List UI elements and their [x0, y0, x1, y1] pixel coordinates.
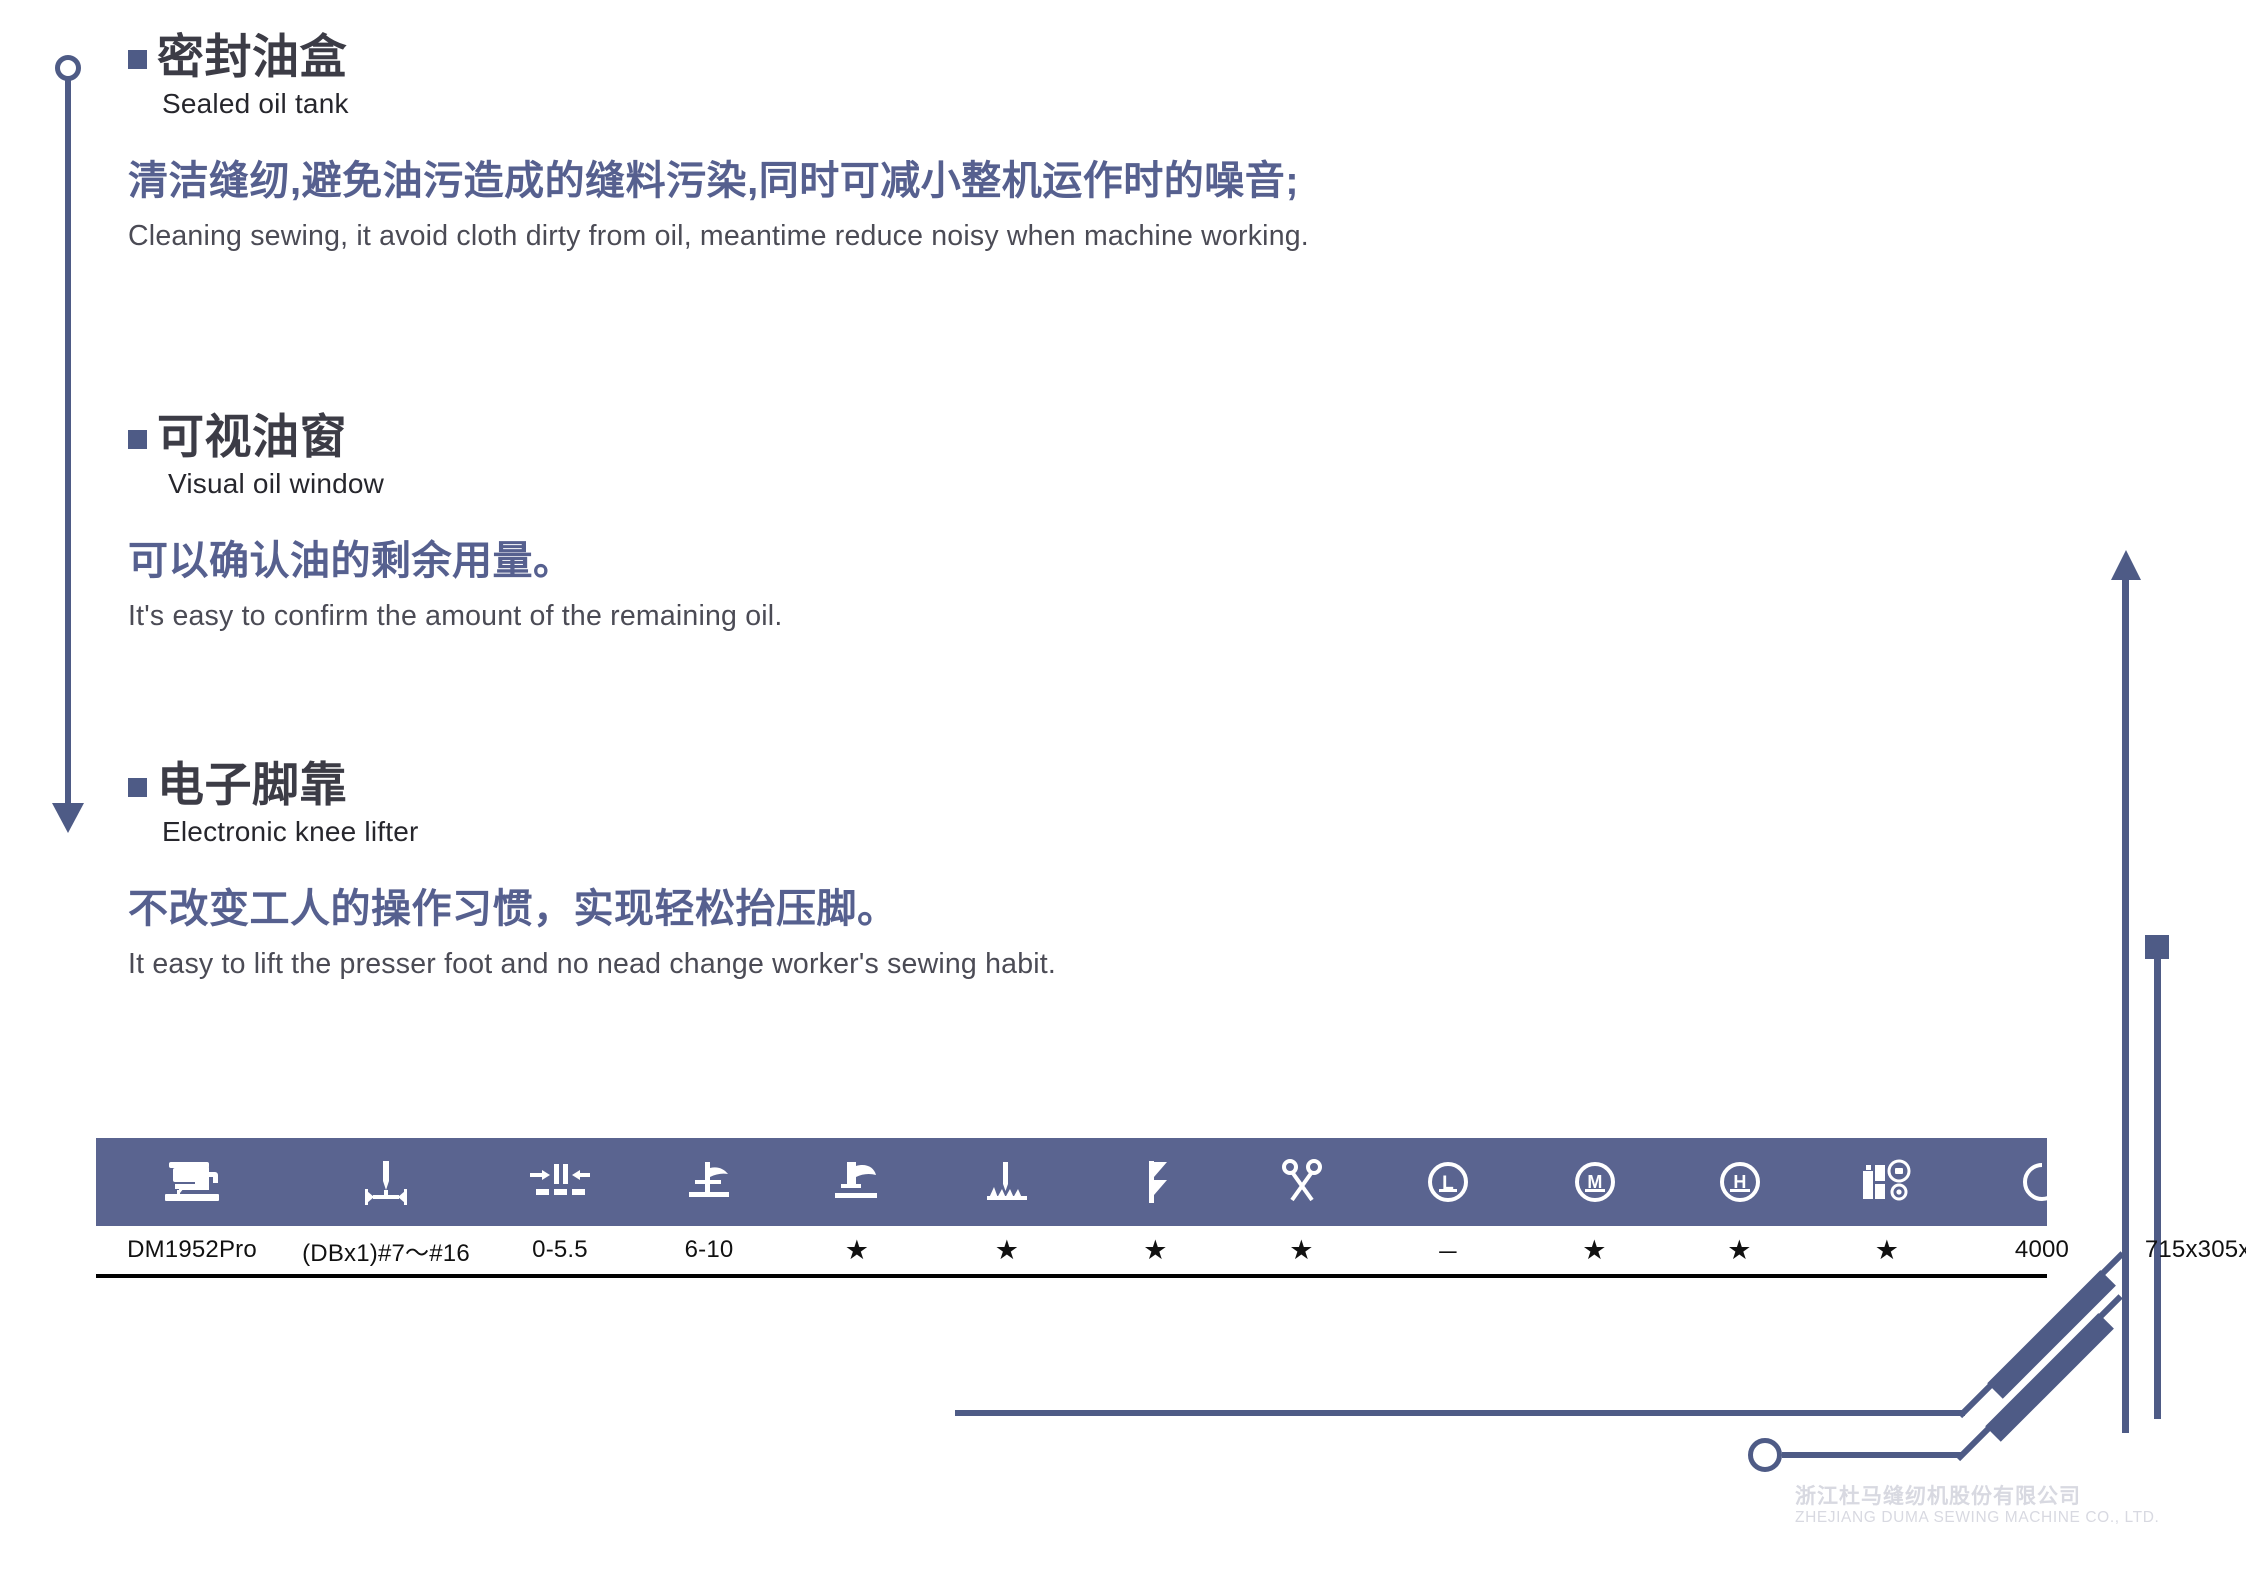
feature-title-en: Sealed oil tank — [162, 88, 1309, 120]
spec-icon-cell — [1812, 1138, 1962, 1226]
spec-icon-cell: M — [1522, 1138, 1667, 1226]
spec-icon-cell — [288, 1138, 484, 1226]
specification-table: L M H — [96, 1138, 2047, 1278]
square-marker-icon — [2145, 935, 2169, 959]
feature-title: 密封油盒 — [128, 32, 1309, 82]
timeline-start-circle-icon — [55, 55, 81, 81]
spec-icon-cell — [636, 1138, 782, 1226]
square-bullet-icon — [128, 50, 147, 69]
feature-title-cn: 电子脚靠 — [157, 760, 347, 810]
spec-icon-cell — [1962, 1138, 2122, 1226]
spec-value-cell: 4000 — [1962, 1236, 2122, 1264]
spec-value-cell: ★ — [1082, 1237, 1229, 1264]
feature-title: 可视油窗 — [128, 412, 782, 462]
feature-block-visual-oil-window: 可视油窗 Visual oil window 可以确认油的剩余用量。 It's … — [128, 412, 782, 633]
arrow-up-icon — [2111, 550, 2141, 580]
spec-icon-cell — [2122, 1138, 2246, 1226]
spec-icon-row: L M H — [96, 1138, 2047, 1226]
timeline-stem — [65, 79, 71, 809]
square-bullet-icon — [128, 430, 147, 449]
spec-icon-cell — [782, 1138, 932, 1226]
spec-value-cell: ★ — [932, 1237, 1082, 1264]
watermark-cn: 浙江杜马缝纫机股份有限公司 — [1795, 1485, 2159, 1509]
spec-value-cell: ★ — [1812, 1237, 1962, 1264]
spec-value-row: DM1952Pro (DBx1)#7～#16 0-5.5 6-10 ★ ★ ★ … — [96, 1226, 2047, 1278]
rotation-speed-icon — [2019, 1159, 2065, 1205]
feature-block-sealed-oil-tank: 密封油盒 Sealed oil tank 清洁缝纫,避免油污造成的缝料污染,同时… — [128, 32, 1309, 253]
feature-body-cn: 清洁缝纫,避免油污造成的缝料污染,同时可减小整机运作时的噪音; — [128, 148, 1309, 206]
spec-value-cell: ★ — [782, 1237, 932, 1264]
bottom-connector-line-lower — [1782, 1452, 1962, 1458]
feature-body-cn: 可以确认油的剩余用量。 — [128, 528, 782, 586]
presser-foot-icon — [831, 1160, 883, 1204]
spec-value-cell: 6-10 — [636, 1236, 782, 1264]
left-timeline-rail — [50, 55, 90, 845]
scissors-icon — [1279, 1159, 1325, 1205]
stitch-length-icon — [528, 1162, 592, 1202]
spec-icon-cell — [96, 1138, 288, 1226]
packing-box-icon — [2192, 1156, 2244, 1208]
feature-block-electronic-knee-lifter: 电子脚靠 Electronic knee lifter 不改变工人的操作习惯，实… — [128, 760, 1056, 981]
bottom-connector-line-upper — [955, 1410, 1965, 1416]
feature-title-cn: 可视油窗 — [157, 412, 347, 462]
low-speed-icon: L — [1426, 1160, 1470, 1204]
spec-value-cell: ★ — [1667, 1237, 1812, 1264]
watermark-en: ZHEJIANG DUMA SEWING MACHINE CO., LTD. — [1795, 1509, 2159, 1527]
feature-body-en: Cleaning sewing, it avoid cloth dirty fr… — [128, 220, 1309, 253]
feature-body-en: It's easy to confirm the amount of the r… — [128, 600, 782, 633]
timeline-arrow-down-icon — [52, 803, 84, 833]
connector-circle-icon — [1748, 1438, 1782, 1472]
control-panel-icon — [1861, 1159, 1913, 1205]
feature-body-cn: 不改变工人的操作习惯，实现轻松抬压脚。 — [128, 876, 1056, 934]
company-watermark: 浙江杜马缝纫机股份有限公司 ZHEJIANG DUMA SEWING MACHI… — [1795, 1485, 2159, 1527]
square-bullet-icon — [128, 778, 147, 797]
spec-icon-cell: H — [1667, 1138, 1812, 1226]
spec-value-cell: 0-5.5 — [484, 1236, 636, 1264]
thread-trimmer-blade-icon — [1137, 1159, 1175, 1205]
spec-icon-cell: L — [1374, 1138, 1522, 1226]
spec-value-cell: (DBx1)#7～#16 — [288, 1233, 484, 1268]
spec-value-cell: DM1952Pro — [96, 1236, 288, 1264]
presser-foot-lift-icon — [683, 1160, 735, 1204]
feature-body-en: It easy to lift the presser foot and no … — [128, 948, 1056, 981]
spec-icon-cell — [484, 1138, 636, 1226]
feature-title-en: Visual oil window — [168, 468, 782, 500]
spec-value-cell: ★ — [1522, 1237, 1667, 1264]
spec-icon-cell — [932, 1138, 1082, 1226]
spec-icon-cell — [1229, 1138, 1374, 1226]
spec-value-cell: ★ — [1229, 1237, 1374, 1264]
feature-title-cn: 密封油盒 — [157, 32, 347, 82]
feature-title: 电子脚靠 — [128, 760, 1056, 810]
feature-title-en: Electronic knee lifter — [162, 816, 1056, 848]
spec-value-cell: － — [1374, 1233, 1522, 1268]
needle-size-icon — [359, 1159, 413, 1205]
medium-speed-icon: M — [1573, 1160, 1617, 1204]
sewing-machine-icon — [163, 1160, 221, 1204]
spec-value-cell: 715x305x630 — [2122, 1236, 2246, 1264]
feed-dog-icon — [981, 1160, 1033, 1204]
arrow-up-stem — [2122, 578, 2129, 1433]
high-speed-icon: H — [1718, 1160, 1762, 1204]
spec-icon-cell — [1082, 1138, 1229, 1226]
